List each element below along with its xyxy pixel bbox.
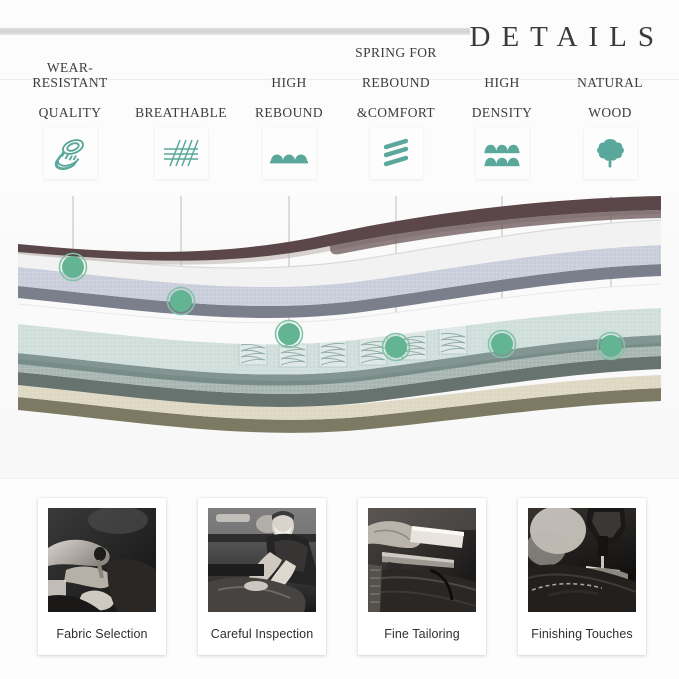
feature-breathable[interactable]: BREATHABLE xyxy=(128,80,234,179)
feature-label-line: REBOUND xyxy=(255,105,323,120)
feature-label-line: DENSITY xyxy=(472,105,533,120)
fabric-roll-icon xyxy=(52,136,88,170)
feature-icon-box[interactable] xyxy=(476,127,529,179)
feature-spring-for-rebound-comfort[interactable]: SPRING FOR REBOUND &COMFORT xyxy=(343,80,449,179)
feature-icon-box[interactable] xyxy=(584,127,637,179)
feature-label-line: REBOUND xyxy=(355,75,437,90)
process-card-finishing-touches[interactable]: Finishing Touches xyxy=(518,498,646,655)
feature-label-line: &COMFORT xyxy=(355,105,437,120)
process-card-careful-inspection[interactable]: Careful Inspection xyxy=(198,498,326,655)
foam-domes-icon xyxy=(269,142,309,164)
feature-natural-wood[interactable]: NATURAL WOOD xyxy=(557,80,663,179)
feature-label-line: BREATHABLE xyxy=(135,105,227,120)
feature-label-line: SPRING FOR xyxy=(355,45,437,60)
tree-icon xyxy=(593,136,627,170)
marker-natural-wood xyxy=(598,333,625,360)
dense-foam-icon xyxy=(483,138,521,168)
process-card-fine-tailoring[interactable]: Fine Tailoring xyxy=(358,498,486,655)
process-card-caption: Finishing Touches xyxy=(518,627,646,641)
process-card-caption: Fabric Selection xyxy=(38,627,166,641)
marker-high-density xyxy=(489,331,516,358)
spring-bars-icon xyxy=(381,137,411,169)
marker-high-rebound xyxy=(276,321,303,348)
mattress-layer-cutaway xyxy=(0,196,679,478)
feature-label-line: WOOD xyxy=(577,105,643,120)
page-title: DETAILS xyxy=(470,21,666,54)
feature-label: HIGH REBOUND xyxy=(236,80,342,120)
weave-mesh-icon xyxy=(162,136,200,170)
feature-label-line: NATURAL xyxy=(577,75,643,90)
feature-label-line: HIGH xyxy=(472,75,533,90)
feature-label: NATURAL WOOD xyxy=(557,80,663,120)
feature-label-line: HIGH xyxy=(255,75,323,90)
feature-label: WEAR-RESISTANT QUALITY xyxy=(17,80,123,120)
feature-icon-box[interactable] xyxy=(155,127,208,179)
marker-breathable xyxy=(168,288,195,315)
marker-wear-resistant xyxy=(60,254,87,281)
feature-strip: WEAR-RESISTANT QUALITY xyxy=(0,80,679,198)
cutting-tool-on-leather-photo xyxy=(368,508,476,612)
process-card-row: Fabric Selection xyxy=(0,498,679,663)
sewing-machine-needle-photo xyxy=(528,508,636,612)
details-page: DETAILS WEAR-RESISTANT QUALITY xyxy=(0,0,679,679)
process-card-fabric-selection[interactable]: Fabric Selection xyxy=(38,498,166,655)
feature-wear-resistant-quality[interactable]: WEAR-RESISTANT QUALITY xyxy=(17,80,123,179)
header-rule xyxy=(0,28,470,35)
feature-icon-box[interactable] xyxy=(370,127,423,179)
feature-label-line: WEAR-RESISTANT xyxy=(17,60,123,90)
feature-label: BREATHABLE xyxy=(128,80,234,120)
feature-label-line: QUALITY xyxy=(17,105,123,120)
feature-high-rebound[interactable]: HIGH REBOUND xyxy=(236,80,342,179)
feature-icon-box[interactable] xyxy=(44,127,97,179)
hands-inspecting-leather-photo xyxy=(48,508,156,612)
marker-spring xyxy=(383,334,410,361)
feature-high-density[interactable]: HIGH DENSITY xyxy=(449,80,555,179)
feature-label: SPRING FOR REBOUND &COMFORT xyxy=(343,66,449,120)
feature-label: HIGH DENSITY xyxy=(449,80,555,120)
worker-at-bench-photo xyxy=(208,508,316,612)
feature-icon-box[interactable] xyxy=(263,127,316,179)
process-card-caption: Careful Inspection xyxy=(198,627,326,641)
process-card-caption: Fine Tailoring xyxy=(358,627,486,641)
